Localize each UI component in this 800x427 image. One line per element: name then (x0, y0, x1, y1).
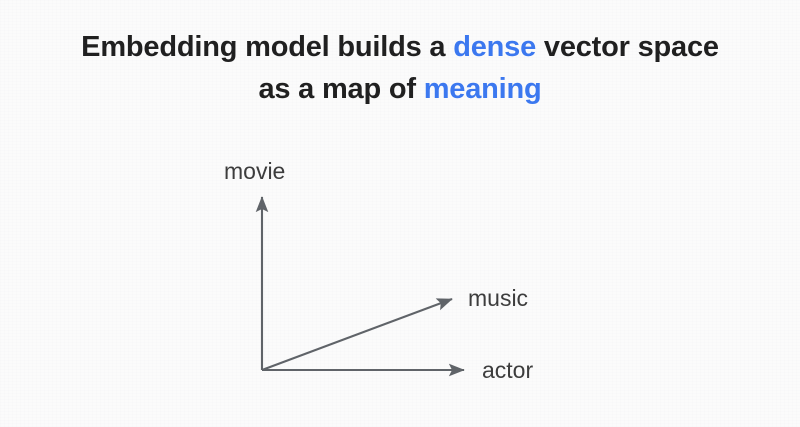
axis-label-actor: actor (482, 357, 533, 384)
axis-label-movie: movie (224, 158, 285, 185)
axes-svg (0, 0, 800, 427)
slide-canvas: Embedding model builds a dense vector sp… (0, 0, 800, 427)
axis-label-music: music (468, 285, 528, 312)
axis-line-music (262, 299, 452, 370)
vector-space-diagram: movie music actor (0, 0, 800, 427)
